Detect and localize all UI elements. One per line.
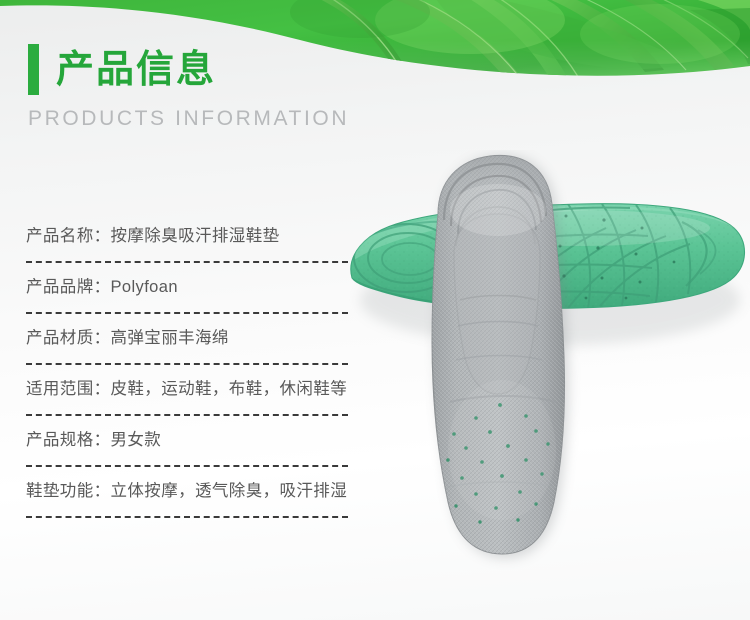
spec-divider xyxy=(26,465,348,467)
title-accent-bar xyxy=(28,44,39,95)
spec-row: 产品规格：男女款 xyxy=(26,423,356,474)
spec-row: 鞋垫功能：立体按摩，透气除臭，吸汗排湿 xyxy=(26,474,356,525)
spec-divider xyxy=(26,363,348,365)
spec-divider xyxy=(26,414,348,416)
spec-text: 产品名称：按摩除臭吸汗排湿鞋垫 xyxy=(26,219,280,253)
page-title: 产品信息 xyxy=(56,51,216,89)
spec-divider xyxy=(26,516,348,518)
spec-row: 产品名称：按摩除臭吸汗排湿鞋垫 xyxy=(26,219,356,270)
gray-insole xyxy=(420,150,580,570)
product-photo xyxy=(330,150,750,570)
spec-text: 产品规格：男女款 xyxy=(26,423,161,457)
spec-text: 鞋垫功能：立体按摩，透气除臭，吸汗排湿 xyxy=(26,474,347,508)
spec-text: 产品材质：高弹宝丽丰海绵 xyxy=(26,321,229,355)
spec-divider xyxy=(26,261,348,263)
spec-row: 产品材质：高弹宝丽丰海绵 xyxy=(26,321,356,372)
spec-row: 产品品牌：Polyfoan xyxy=(26,270,356,321)
page-subtitle: PRODUCTS INFORMATION xyxy=(28,107,349,131)
spec-text: 适用范围：皮鞋，运动鞋，布鞋，休闲鞋等 xyxy=(26,372,347,406)
spec-row: 适用范围：皮鞋，运动鞋，布鞋，休闲鞋等 xyxy=(26,372,356,423)
product-information-page: 产品信息 PRODUCTS INFORMATION 产品名称：按摩除臭吸汗排湿鞋… xyxy=(0,0,750,620)
spec-divider xyxy=(26,312,348,314)
spec-list: 产品名称：按摩除臭吸汗排湿鞋垫 产品品牌：Polyfoan 产品材质：高弹宝丽丰… xyxy=(26,219,356,525)
insole-pair-image xyxy=(330,150,750,570)
page-title-row: 产品信息 xyxy=(28,44,216,95)
spec-text: 产品品牌：Polyfoan xyxy=(26,270,178,304)
